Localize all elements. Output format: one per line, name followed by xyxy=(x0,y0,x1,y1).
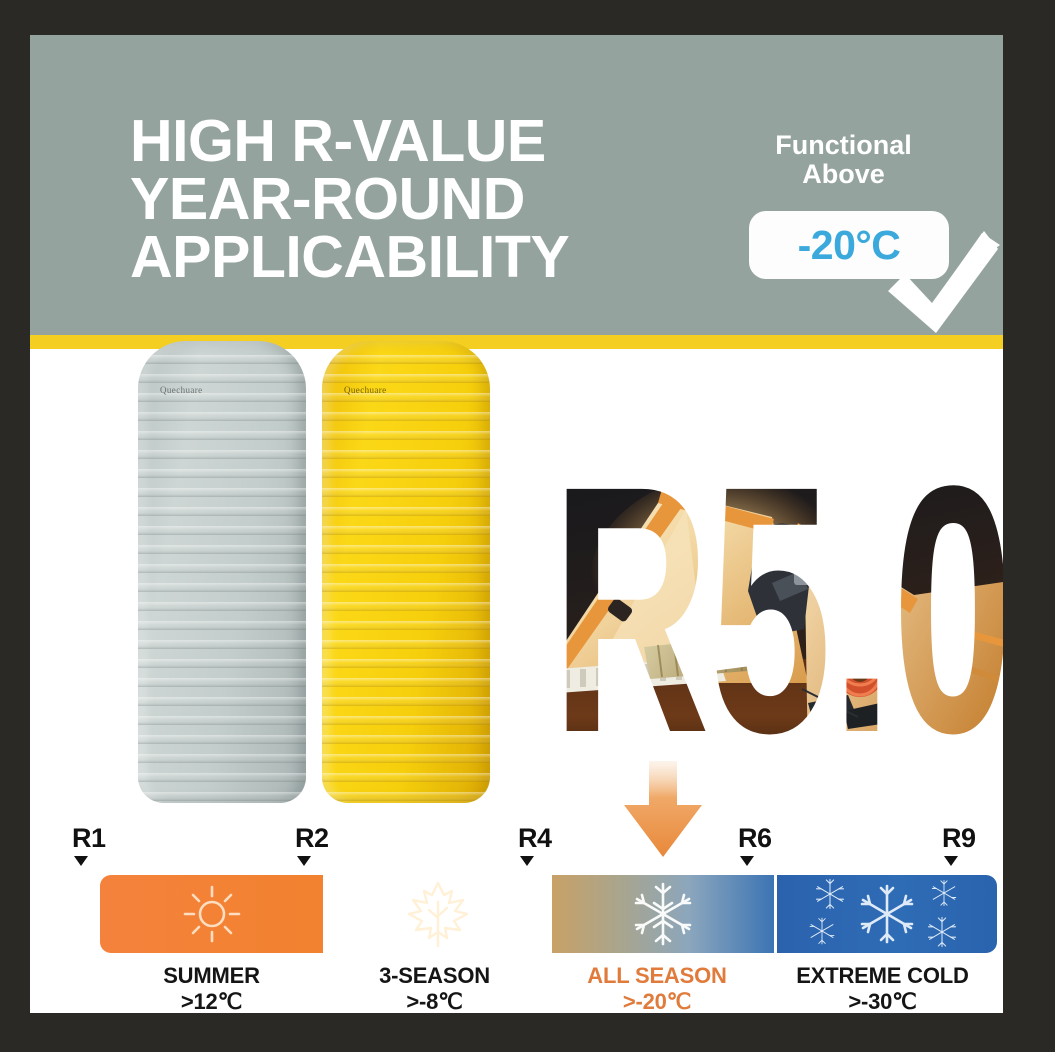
marker-triangle-icon xyxy=(740,856,754,866)
pad-baffle-texture xyxy=(322,341,490,803)
scale-segment-3-season xyxy=(323,875,549,953)
segment-name: SUMMER xyxy=(100,963,323,989)
segment-name: 3-SEASON xyxy=(323,963,546,989)
scale-label-all-season: ALL SEASON >-20℃ xyxy=(546,963,768,1013)
scale-marker-label: R6 xyxy=(738,825,772,852)
segment-temperature: >12℃ xyxy=(100,989,323,1013)
scale-marker-r6: R6 xyxy=(738,825,772,866)
segment-name: ALL SEASON xyxy=(546,963,768,989)
page-title: HIGH R-VALUE YEAR-ROUND APPLICABILITY xyxy=(130,113,569,286)
functional-above-badge: Functional Above -20°C xyxy=(736,131,1003,331)
marker-triangle-icon xyxy=(520,856,534,866)
scale-marker-r1: R1 xyxy=(72,825,106,866)
scale-marker-label: R2 xyxy=(295,825,329,852)
marker-triangle-icon xyxy=(297,856,311,866)
r-value-text-photo-fill xyxy=(558,431,1003,763)
scale-marker-r4: R4 xyxy=(518,825,552,866)
scale-marker-label: R9 xyxy=(942,825,976,852)
scale-marker-r9: R9 xyxy=(942,825,976,866)
headline-line-2: YEAR-ROUND xyxy=(130,171,569,229)
badge-caption-line-2: Above xyxy=(736,160,951,189)
segment-temperature: >-8℃ xyxy=(323,989,546,1013)
marker-triangle-icon xyxy=(74,856,88,866)
scale-segment-extreme-cold xyxy=(774,875,997,953)
scale-segment-summer xyxy=(100,875,323,953)
product-infographic-card: HIGH R-VALUE YEAR-ROUND APPLICABILITY Fu… xyxy=(30,35,1003,1013)
scale-marker-label: R4 xyxy=(518,825,552,852)
yellow-sleeping-pad: Quechuare xyxy=(322,341,490,803)
sun-icon xyxy=(181,883,243,945)
scale-label-extreme-cold: EXTREME COLD >-30℃ xyxy=(768,963,997,1013)
maple-leaf-icon xyxy=(405,880,471,948)
scale-label-3-season: 3-SEASON >-8℃ xyxy=(323,963,546,1013)
segment-name: EXTREME COLD xyxy=(768,963,997,989)
badge-caption: Functional Above xyxy=(736,131,951,189)
pad-baffle-texture xyxy=(138,341,306,803)
scale-segment-all-season xyxy=(549,875,774,953)
segment-temperature: >-30℃ xyxy=(768,989,997,1013)
r-value-display: R5.0 xyxy=(558,431,1003,763)
grey-sleeping-pad: Quechuare xyxy=(138,341,306,803)
segment-temperature: >-20℃ xyxy=(546,989,768,1013)
down-arrow-icon xyxy=(622,761,704,864)
scale-marker-r2: R2 xyxy=(295,825,329,866)
infographic-root: HIGH R-VALUE YEAR-ROUND APPLICABILITY Fu… xyxy=(0,0,1055,1052)
brand-logo: Quechuare xyxy=(344,385,387,395)
check-icon xyxy=(882,227,1003,350)
headline-line-3: APPLICABILITY xyxy=(130,229,569,287)
r-value-scale-bar xyxy=(100,875,997,953)
badge-caption-line-1: Functional xyxy=(736,131,951,160)
scale-label-summer: SUMMER >12℃ xyxy=(100,963,323,1013)
headline-line-1: HIGH R-VALUE xyxy=(130,113,569,171)
snowflake-icon xyxy=(630,881,696,947)
marker-triangle-icon xyxy=(944,856,958,866)
brand-logo: Quechuare xyxy=(160,385,203,395)
scale-marker-label: R1 xyxy=(72,825,106,852)
multi-snowflake-icon xyxy=(792,877,982,951)
